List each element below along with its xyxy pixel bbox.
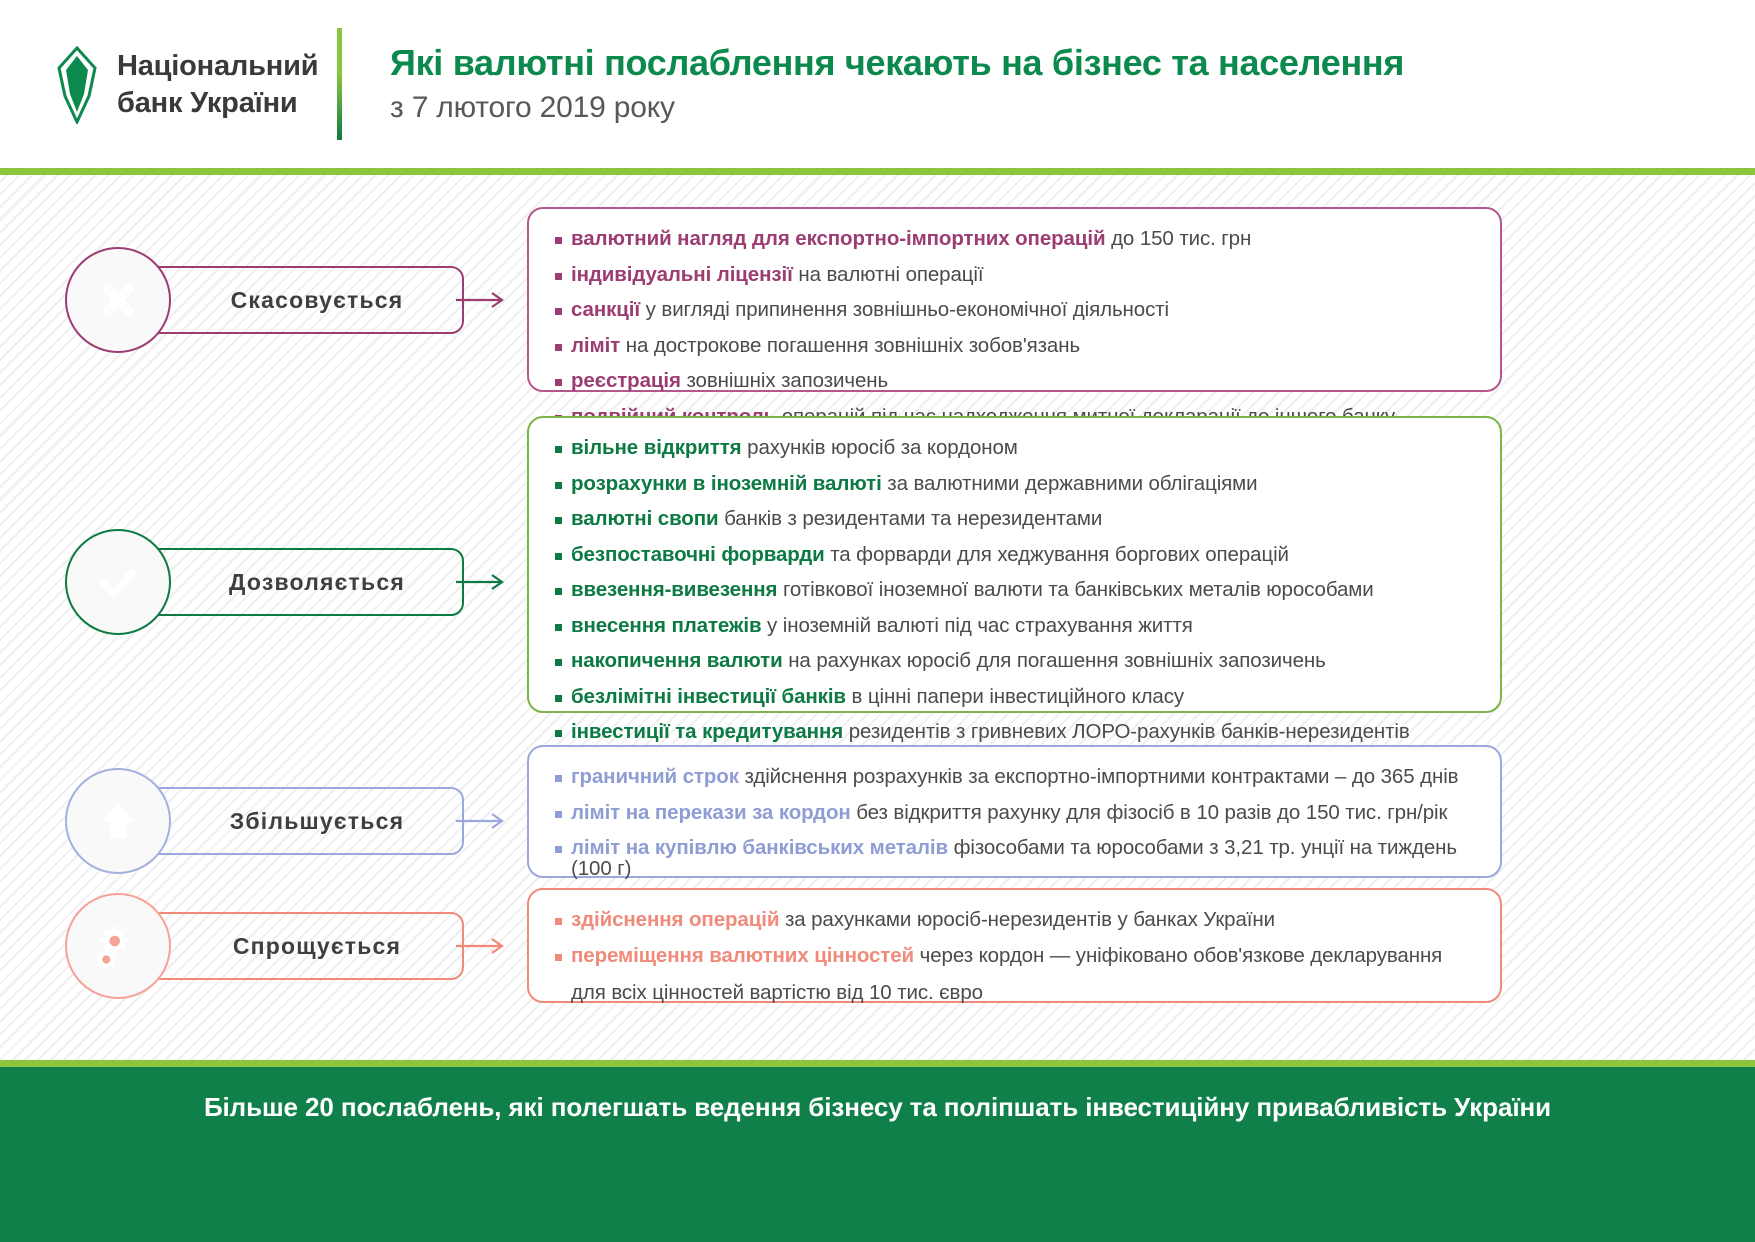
nbu-logo: Національний банк України — [55, 46, 318, 124]
gears-icon-badge — [71, 899, 165, 993]
nbu-logo-text: Національний банк України — [117, 48, 318, 122]
panel-allowed: вільне відкриття рахунків юросіб за корд… — [527, 416, 1502, 713]
list-item: вільне відкриття рахунків юросіб за корд… — [555, 438, 1474, 459]
bullet-square-icon — [555, 517, 562, 524]
list-item-text: накопичення валюти на рахунках юросіб дл… — [571, 651, 1326, 672]
list-item-highlight: розрахунки в іноземній валюті — [571, 472, 882, 495]
panel-increased: граничний строк здійснення розрахунків з… — [527, 745, 1502, 878]
list-item-highlight: накопичення валюти — [571, 649, 783, 672]
row-label-simplified: Спрощується — [147, 933, 401, 960]
list-item: накопичення валюти на рахунках юросіб дл… — [555, 651, 1474, 672]
list-item-highlight: інвестиції та кредитування — [571, 720, 843, 743]
row-label-cancelled: Скасовується — [145, 287, 404, 314]
bullet-square-icon — [555, 344, 562, 351]
list-item: безпоставочні форварди та форварди для х… — [555, 545, 1474, 566]
bullet-square-icon — [555, 379, 562, 386]
list-item-highlight: реєстрація — [571, 369, 681, 392]
bottom-accent-bar — [0, 1060, 1755, 1067]
bullet-square-icon — [555, 775, 562, 782]
bullet-square-icon — [555, 553, 562, 560]
list-item-text: санкції у вигляді припинення зовнішньо-е… — [571, 300, 1169, 321]
list-item: інвестиції та кредитування резидентів з … — [555, 722, 1474, 743]
list-item: ввезення-вивезення готівкової іноземної … — [555, 580, 1474, 601]
bullet-square-icon — [555, 308, 562, 315]
top-accent-bar — [0, 168, 1755, 175]
list-item-highlight: ліміт на перекази за кордон — [571, 801, 851, 824]
list-item-text: валютний нагляд для експортно-імпортних … — [571, 229, 1251, 250]
list-item-text: граничний строк здійснення розрахунків з… — [571, 767, 1458, 788]
list-item: реєстрація зовнішніх запозичень — [555, 371, 1474, 392]
list-item: валютні свопи банків з резидентами та не… — [555, 509, 1474, 530]
row-label-allowed: Дозволяється — [143, 569, 405, 596]
list-item-text: розрахунки в іноземній валюті за валютни… — [571, 474, 1258, 495]
bullet-square-icon — [555, 482, 562, 489]
list-item-text: реєстрація зовнішніх запозичень — [571, 371, 888, 392]
panel-cancelled: валютний нагляд для експортно-імпортних … — [527, 207, 1502, 392]
bullet-square-icon — [555, 695, 562, 702]
bullet-square-icon — [555, 588, 562, 595]
bullet-square-icon — [555, 237, 562, 244]
list-item-text: валютні свопи банків з резидентами та не… — [571, 509, 1102, 530]
list-item: ліміт на перекази за кордон без відкритт… — [555, 803, 1474, 824]
list-item-highlight: санкції — [571, 298, 640, 321]
list-item-text: здійснення операцій за рахунками юросіб-… — [571, 910, 1275, 931]
nbu-shield-logo-icon — [55, 46, 99, 124]
arrow-cancelled — [456, 288, 512, 312]
list-item-highlight: вільне відкриття — [571, 436, 742, 459]
up-arrow-icon-badge — [71, 774, 165, 868]
list-item-text: інвестиції та кредитування резидентів з … — [571, 722, 1410, 743]
list-item-text: вільне відкриття рахунків юросіб за корд… — [571, 438, 1018, 459]
gears-icon — [90, 920, 146, 972]
list-item-text: ввезення-вивезення готівкової іноземної … — [571, 580, 1374, 601]
list-item-highlight: граничний строк — [571, 765, 739, 788]
list-item-highlight: здійснення операцій — [571, 908, 779, 931]
panel-simplified: здійснення операцій за рахунками юросіб-… — [527, 888, 1502, 1003]
list-item-highlight: валютний нагляд для експортно-імпортних … — [571, 227, 1105, 250]
list-item-highlight: внесення платежів — [571, 614, 761, 637]
page-title: Які валютні послаблення чекають на бізне… — [390, 42, 1404, 83]
list-item-text: безлімітні інвестиції банків в цінні пап… — [571, 687, 1184, 708]
list-item-text: безпоставочні форварди та форварди для х… — [571, 545, 1289, 566]
bottom-banner-text: Більше 20 послаблень, які полегшать веде… — [204, 1092, 1551, 1123]
list-item: граничний строк здійснення розрахунків з… — [555, 767, 1474, 788]
list-item: санкції у вигляді припинення зовнішньо-е… — [555, 300, 1474, 321]
check-icon — [94, 558, 142, 606]
header-titles: Які валютні послаблення чекають на бізне… — [390, 42, 1404, 125]
bullet-square-icon — [555, 954, 562, 961]
list-item-highlight: безлімітні інвестиції банків — [571, 685, 846, 708]
list-item-highlight: валютні свопи — [571, 507, 719, 530]
bullet-list-simplified: здійснення операцій за рахунками юросіб-… — [555, 910, 1474, 1005]
row-label-increased: Збільшується — [144, 808, 404, 835]
bullet-list-allowed: вільне відкриття рахунків юросіб за корд… — [555, 438, 1474, 778]
list-item-highlight: індивідуальні ліцензії — [571, 263, 793, 286]
list-item-text: ліміт на купівлю банківських металів фіз… — [571, 838, 1474, 879]
bullet-list-cancelled: валютний нагляд для експортно-імпортних … — [555, 229, 1474, 427]
bullet-square-icon — [555, 624, 562, 631]
list-item-text: переміщення валютних цінностей через кор… — [571, 946, 1442, 967]
arrow-simplified — [456, 934, 512, 958]
check-icon-badge — [71, 535, 165, 629]
list-item-highlight: ліміт на купівлю банківських металів — [571, 836, 948, 859]
bullet-square-icon — [555, 446, 562, 453]
list-item-continuation: для всіх цінностей вартістю від 10 тис. … — [555, 981, 1474, 1005]
up-arrow-icon — [97, 798, 139, 844]
list-item-text: ліміт на перекази за кордон без відкритт… — [571, 803, 1447, 824]
list-item: безлімітні інвестиції банків в цінні пап… — [555, 687, 1474, 708]
bottom-banner: Більше 20 послаблень, які полегшать веде… — [0, 1067, 1755, 1242]
list-item-text: індивідуальні ліцензії на валютні операц… — [571, 265, 983, 286]
bullet-square-icon — [555, 846, 562, 853]
arrow-allowed — [456, 570, 512, 594]
cross-icon — [96, 278, 140, 322]
list-item-text: внесення платежів у іноземній валюті під… — [571, 616, 1193, 637]
list-item: розрахунки в іноземній валюті за валютни… — [555, 474, 1474, 495]
bullet-square-icon — [555, 811, 562, 818]
header-divider — [337, 28, 342, 140]
list-item: ліміт на дострокове погашення зовнішніх … — [555, 336, 1474, 357]
cross-icon-badge — [71, 253, 165, 347]
list-item: переміщення валютних цінностей через кор… — [555, 946, 1474, 967]
list-item: здійснення операцій за рахунками юросіб-… — [555, 910, 1474, 931]
list-item: внесення платежів у іноземній валюті під… — [555, 616, 1474, 637]
bullet-square-icon — [555, 273, 562, 280]
list-item-highlight: ліміт — [571, 334, 620, 357]
list-item: індивідуальні ліцензії на валютні операц… — [555, 265, 1474, 286]
page-header: Національний банк України Які валютні по… — [0, 0, 1755, 168]
bullet-square-icon — [555, 659, 562, 666]
bullet-square-icon — [555, 730, 562, 737]
arrow-increased — [456, 809, 512, 833]
bullet-square-icon — [555, 918, 562, 925]
list-item-highlight: переміщення валютних цінностей — [571, 944, 914, 967]
page-subtitle: з 7 лютого 2019 року — [390, 91, 1404, 125]
list-item: ліміт на купівлю банківських металів фіз… — [555, 838, 1474, 879]
list-item: валютний нагляд для експортно-імпортних … — [555, 229, 1474, 250]
list-item-highlight: ввезення-вивезення — [571, 578, 777, 601]
list-item-highlight: безпоставочні форварди — [571, 543, 825, 566]
list-item-text: ліміт на дострокове погашення зовнішніх … — [571, 336, 1080, 357]
